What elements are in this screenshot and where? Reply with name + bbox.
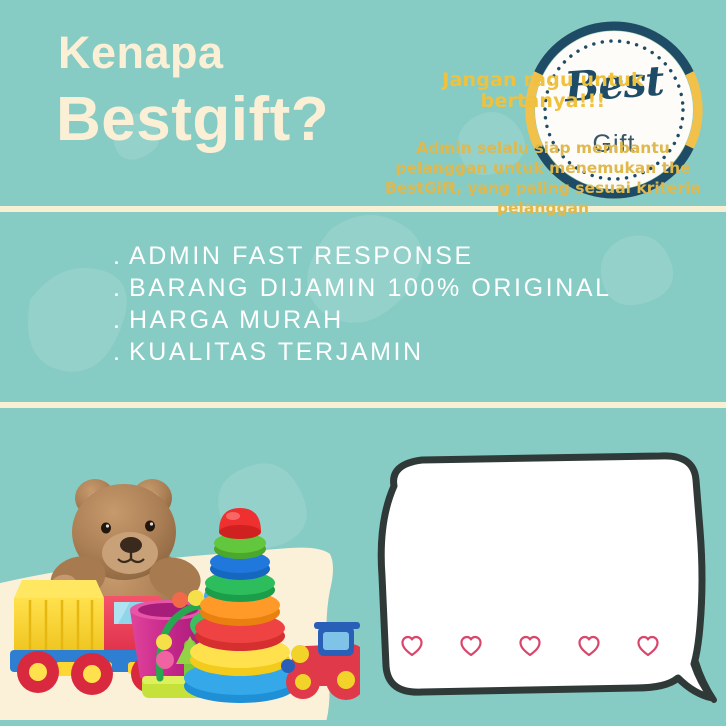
heart-icon <box>400 634 424 658</box>
heart-icon <box>636 634 660 658</box>
bullet-dot: . <box>113 240 129 272</box>
bullet-dot: . <box>113 336 129 368</box>
hearts-row <box>400 634 660 658</box>
bubble-body-line: BestGift, yang paling sesuai kriteria <box>378 178 708 198</box>
heart-icon <box>459 634 483 658</box>
bubble-text-block: Jangan ragu untuk bertanya!!! Admin sela… <box>378 70 708 218</box>
list-item: .HARGA MURAH <box>113 304 713 336</box>
list-item-label: ADMIN FAST RESPONSE <box>129 242 474 270</box>
list-item-label: KUALITAS TERJAMIN <box>129 338 424 366</box>
bullet-dot: . <box>113 304 129 336</box>
toy-ring-stacker <box>184 508 296 703</box>
bubble-tail-accent <box>360 450 726 726</box>
divider-rule-bottom <box>0 402 726 408</box>
toy-tractor <box>281 622 360 700</box>
bubble-body-line: Admin selalu siap membantu <box>378 138 708 158</box>
list-item: .KUALITAS TERJAMIN <box>113 336 713 368</box>
bullet-dot: . <box>113 272 129 304</box>
features-list: .ADMIN FAST RESPONSE .BARANG DIJAMIN 100… <box>113 240 713 368</box>
bubble-heading: Jangan ragu untuk bertanya!!! <box>378 70 708 112</box>
toys-photo <box>0 450 360 726</box>
bottom-section <box>0 410 726 726</box>
headline-line-1: Kenapa <box>58 30 329 75</box>
list-item-label: HARGA MURAH <box>129 306 344 334</box>
list-item-label: BARANG DIJAMIN 100% ORIGINAL <box>129 274 612 302</box>
bubble-body-line: pelanggan <box>378 198 708 218</box>
headline-block: Kenapa Bestgift? <box>56 30 329 151</box>
features-ul: .ADMIN FAST RESPONSE .BARANG DIJAMIN 100… <box>113 240 713 368</box>
bubble-body: Admin selalu siap membantu pelanggan unt… <box>378 138 708 218</box>
list-item: .BARANG DIJAMIN 100% ORIGINAL <box>113 272 713 304</box>
headline-line-2: Bestgift? <box>56 89 329 151</box>
heart-icon <box>518 634 542 658</box>
promo-poster: Kenapa Bestgift? Best Gift .ADMIN FAST R… <box>0 0 726 726</box>
list-item: .ADMIN FAST RESPONSE <box>113 240 713 272</box>
heart-icon <box>577 634 601 658</box>
bubble-body-line: pelanggan untuk menemukan the <box>378 158 708 178</box>
